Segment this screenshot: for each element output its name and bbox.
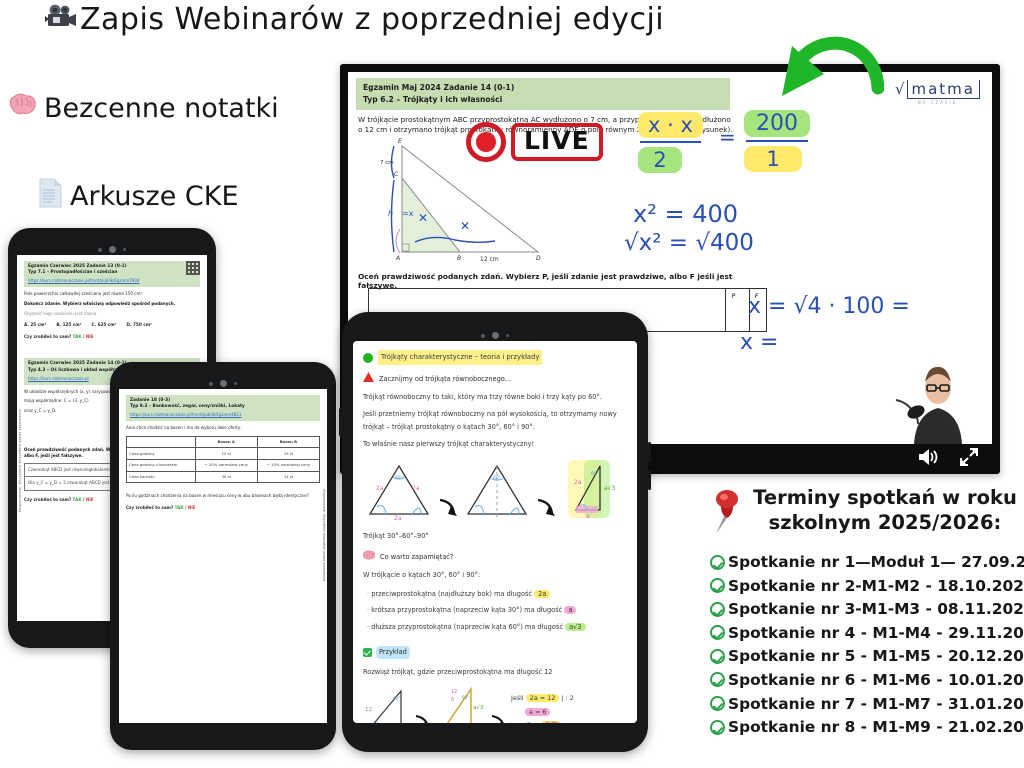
cell: Cena karnetu <box>127 471 196 483</box>
radical-icon: √ <box>895 80 907 98</box>
bullet-mark: 2a <box>534 590 550 598</box>
cell: 30 zł <box>195 471 257 483</box>
tablet-volume-button[interactable] <box>339 408 342 436</box>
tablet-screen: Trójkąty charakterystyczne – teoria i pr… <box>353 341 637 723</box>
cell: − 20% normalnej ceny <box>195 459 257 471</box>
page-title-text: Zapis Webinarów z poprzedniej edycji <box>80 2 664 37</box>
notes-bullet-list: · przeciwprostokątna (najdłuższy bok) ma… <box>363 588 627 634</box>
svg-text:60°: 60° <box>395 475 403 481</box>
list-item: · przeciwprostokątna (najdłuższy bok) ma… <box>363 588 627 601</box>
bullet-mark: a <box>564 606 576 614</box>
record-icon <box>466 122 506 162</box>
equals-sign: = <box>719 125 736 149</box>
page-title: Zapis Webinarów z poprzedniej edycji <box>44 2 664 37</box>
label-text: Bezcenne notatki <box>44 93 279 124</box>
example-solution: Jeśli 2a = 12 | : 2 a = 6 to a√3 = 6√3 <box>511 692 574 723</box>
remember-row: Co warto zapamiętać? <box>363 550 627 565</box>
task-line: Objętość tego sześcianu jest równa <box>24 311 200 317</box>
notes-page: Trójkąty charakterystyczne – teoria i pr… <box>353 341 637 723</box>
cell: 14 zł <box>257 471 319 483</box>
equilateral-triangle: 2a 2a 2a 60° <box>366 462 432 520</box>
label-bezcenne-notatki: Bezcenne notatki <box>8 92 279 124</box>
task-question: Po ilu godzinach chodzenia na basen w mi… <box>126 493 320 499</box>
svg-text:a√3: a√3 <box>473 704 484 711</box>
bullet-text: · dłuższa przyprostokątna (naprzeciw kąt… <box>367 623 563 631</box>
check-circle-icon <box>710 602 725 617</box>
schedule-list: Spotkanie nr 1—Moduł 1— 27.09.2025 Spotk… <box>710 553 1020 736</box>
svg-text:D: D <box>536 255 541 262</box>
tablet-power-button[interactable] <box>648 442 651 462</box>
col-header-0 <box>127 436 196 448</box>
svg-text:2a: 2a <box>376 485 384 492</box>
task-instruction: Dokończ zdanie. Wybierz właściwą odpowie… <box>24 301 200 307</box>
svg-text:B: B <box>457 255 461 262</box>
side-label-bottom: 12 cm <box>480 256 499 263</box>
triangle-illustrations: 2a 2a 2a 60° <box>363 458 627 520</box>
option-c[interactable]: C. 625 cm³ <box>91 322 116 328</box>
svg-text:C: C <box>394 171 399 178</box>
copyright-note: Eksponowanie. Wszystkich Wszystkich praw… <box>18 409 22 512</box>
svg-text:h: h <box>388 209 393 218</box>
frac-denominator: 2 <box>638 147 682 173</box>
self-check-yes[interactable]: TAK <box>73 334 82 339</box>
self-check-label: Czy zrobiłeś to sam? <box>24 334 71 339</box>
svg-text:✕: ✕ <box>460 219 470 233</box>
remember-text: Co warto zapamiętać? <box>380 551 453 564</box>
task-header-line2: Typ 7.1 – Prostopadłościan i sześcian <box>28 270 196 276</box>
self-check-yes[interactable]: TAK <box>175 505 184 510</box>
list-item: · dłuższa przyprostokątna (naprzeciw kąt… <box>363 621 627 634</box>
solve-if: Jeśli <box>511 694 524 702</box>
task-line: Pole powierzchni całkowitej sześcianu je… <box>24 291 200 297</box>
notes-intro-2: W trójkącie o kątach 30°, 60° i 90°: <box>363 569 627 582</box>
solve-then: to <box>511 721 517 723</box>
notes-subtitle-row: Zacznijmy od trójkąta równobocznego… <box>363 372 627 387</box>
schedule-item-label: Spotkanie nr 1—Moduł 1— 27.09.2025 <box>728 553 1024 571</box>
green-dot-icon <box>363 353 373 363</box>
copyright-note: Eksponowanie. Wszystkich Wszystkich praw… <box>322 489 326 581</box>
schedule-title-line2: szkolnym 2025/2026: <box>750 511 1020 536</box>
notes-heading-2: Trójkąt 30°–60°–90° <box>363 530 627 543</box>
cell: 12 zł <box>195 448 257 460</box>
answer-options: A. 25 cm³ B. 125 cm³ C. 625 cm³ D. 750 c… <box>24 322 200 328</box>
tablet-side-button[interactable] <box>648 470 651 490</box>
task-link[interactable]: https://kurs.matmanaczasie.pl/front/publ… <box>130 412 316 418</box>
list-item: Spotkanie nr 2-M1-M2 - 18.10.2025 <box>710 577 1020 595</box>
tablet-notes[interactable]: Trójkąty charakterystyczne – teoria i pr… <box>342 312 648 752</box>
svg-text:=x: =x <box>402 209 414 218</box>
cell: 15 zł <box>257 448 319 460</box>
self-check: Czy zrobiłeś to sam? TAK / NIE <box>126 505 320 511</box>
check-circle-icon <box>710 649 725 664</box>
cell: − 10% normalnej ceny <box>257 459 319 471</box>
side-label-left: 7 cm <box>380 160 394 166</box>
svg-text:6: 6 <box>451 697 454 703</box>
svg-text:✕: ✕ <box>418 211 428 225</box>
schedule-item-label: Spotkanie nr 2-M1-M2 - 18.10.2025 <box>728 577 1024 595</box>
schedule-title-line1: Terminy spotkań w roku <box>750 486 1020 511</box>
list-item: Spotkanie nr 6 - M1-M6 - 10.01.2026 <box>710 671 1020 689</box>
bullet-mark: a√3 <box>565 623 585 631</box>
list-item: Spotkanie nr 8 - M1-M9 - 21.02.2026 <box>710 718 1020 736</box>
self-check-label: Czy zrobiłeś to sam? <box>24 497 71 502</box>
logo-word: matma <box>907 80 981 99</box>
task-header-line2: Typ 6.2 – Trójkąty i ich własności <box>363 94 723 106</box>
green-curved-arrow-icon <box>766 30 884 122</box>
handwritten-line-3: √x² = √400 <box>624 230 754 256</box>
tablet-camera-row <box>353 330 637 341</box>
frac-numerator: x · x <box>638 112 703 138</box>
fullscreen-icon[interactable] <box>960 448 978 470</box>
list-item: Spotkanie nr 1—Moduł 1— 27.09.2025 <box>710 553 1020 571</box>
schedule-item-label: Spotkanie nr 4 - M1-M4 - 29.11.2025 <box>728 624 1024 642</box>
svg-text:60°: 60° <box>462 695 469 700</box>
svg-text:2a: 2a <box>412 485 420 492</box>
price-table: Basen A Basen B Cena godziny 12 zł 15 zł… <box>126 436 320 484</box>
table-row: Cena karnetu 30 zł 14 zł <box>127 471 320 483</box>
svg-text:60°: 60° <box>493 475 501 481</box>
notes-paragraph-2: Jeśli przetniemy trójkąt równoboczny na … <box>363 408 627 434</box>
self-check-yes[interactable]: TAK <box>73 497 82 502</box>
svg-text:a√3: a√3 <box>604 485 616 492</box>
check-circle-icon <box>710 720 725 735</box>
schedule-item-label: Spotkanie nr 8 - M1-M9 - 21.02.2026 <box>728 718 1024 736</box>
curved-arrow-icon <box>537 494 555 520</box>
schedule-item-label: Spotkanie nr 3-M1-M3 - 08.11.2025 <box>728 600 1024 618</box>
option-b[interactable]: B. 125 cm³ <box>56 322 81 328</box>
task-header-line2: Typ 9.3 – Bankowość, zegar, ceny/zniżki,… <box>130 404 316 410</box>
live-label: LIVE <box>511 123 603 160</box>
right-triangle-highlighted: 2a a√3 a 60° <box>562 458 624 520</box>
notes-paragraph-1: Trójkąt równoboczny to taki, który ma tr… <box>363 391 627 404</box>
example-text: Rozwiąż trójkąt, gdzie przeciwprostokątn… <box>363 666 627 679</box>
list-item: Spotkanie nr 4 - M1-M4 - 29.11.2025 <box>710 624 1020 642</box>
movie-camera-icon <box>44 3 78 37</box>
solve-div: | : 2 <box>561 694 573 702</box>
bullet-text: · przeciwprostokątna (najdłuższy bok) ma… <box>367 590 532 598</box>
page-document-icon <box>38 178 63 215</box>
handwritten-line-4: x = √4 · 100 = <box>748 294 910 319</box>
notes-title-row: Trójkąty charakterystyczne – teoria i pr… <box>363 350 627 365</box>
list-item: · krótsza przyprostokątna (naprzeciw kąt… <box>363 604 627 617</box>
option-d[interactable]: D. 750 cm³ <box>126 322 151 328</box>
table-row: Cena godziny z karnetem − 20% normalnej … <box>127 459 320 471</box>
col-header-1: Basen A <box>195 436 257 448</box>
brain-icon <box>363 550 375 565</box>
solve-eq1: 2a = 12 <box>526 694 560 702</box>
svg-text:60°: 60° <box>591 471 598 476</box>
tablet-screen: Zadanie 18 (0-3) Typ 9.3 – Bankowość, ze… <box>119 389 327 723</box>
task-intro: Ania chce chodzić na basen i ma do wybor… <box>126 425 320 431</box>
svg-text:60°: 60° <box>393 696 400 701</box>
self-check-no[interactable]: NIE <box>188 505 196 510</box>
example-badge: Przykład <box>363 646 410 659</box>
svg-text:12: 12 <box>365 707 372 713</box>
check-circle-icon <box>710 625 725 640</box>
self-check-label: Czy zrobiłeś to sam? <box>126 505 173 510</box>
curved-arrow-icon <box>415 711 431 723</box>
notes-paragraph-3: To właśnie nasz pierwszy trójkąt charakt… <box>363 438 627 451</box>
curved-arrow-icon <box>439 494 457 520</box>
curved-arrow-icon <box>491 711 507 723</box>
schedule-item-label: Spotkanie nr 5 - M1-M5 - 20.12.2025 <box>728 647 1024 665</box>
check-icon <box>363 648 372 657</box>
speaker-icon[interactable] <box>918 448 940 470</box>
schedule-block: Terminy spotkań w roku szkolnym 2025/202… <box>710 486 1020 742</box>
label-text: Arkusze CKE <box>70 181 239 212</box>
task-header: Egzamin Czerwiec 2025 Zadanie 13 (0-1) T… <box>24 261 200 287</box>
tablet-camera-row <box>17 244 207 255</box>
check-circle-icon <box>710 555 725 570</box>
tablet-camera-row <box>119 378 327 389</box>
task-header: Zadanie 18 (0-3) Typ 9.3 – Bankowość, ze… <box>126 395 320 421</box>
solve-eq4: 6√3 <box>541 721 561 723</box>
svg-text:a: a <box>586 513 590 520</box>
col-header-2: Basen B <box>257 436 319 448</box>
svg-text:12: 12 <box>451 689 457 695</box>
schedule-item-label: Spotkanie nr 7 - M1-M7 - 31.01.2026 <box>728 695 1024 713</box>
notes-subtitle: Zacznijmy od trójkąta równobocznego… <box>379 373 511 386</box>
red-triangle-icon <box>363 372 374 387</box>
bullet-text: · krótsza przyprostokątna (naprzeciw kąt… <box>367 606 562 614</box>
svg-text:2a: 2a <box>394 515 402 520</box>
list-item: Spotkanie nr 7 - M1-M7 - 31.01.2026 <box>710 695 1020 713</box>
list-item: Spotkanie nr 3-M1-M3 - 08.11.2025 <box>710 600 1020 618</box>
task-header-line1: Egzamin Maj 2024 Zadanie 14 (0-1) <box>363 82 723 94</box>
rhs-denominator: 1 <box>744 146 802 172</box>
check-circle-icon <box>710 672 725 687</box>
video-task-header: Egzamin Maj 2024 Zadanie 14 (0-1) Typ 6.… <box>356 78 730 110</box>
tablet-cke-sheet-2[interactable]: Zadanie 18 (0-3) Typ 9.3 – Bankowość, ze… <box>110 362 336 750</box>
svg-text:A: A <box>395 255 400 262</box>
brain-icon <box>8 92 37 124</box>
self-check: Czy zrobiłeś to sam? TAK / NIE <box>24 334 200 340</box>
split-triangle: 60° <box>464 462 530 520</box>
schedule-item-label: Spotkanie nr 6 - M1-M6 - 10.01.2026 <box>728 671 1024 689</box>
live-badge: LIVE <box>466 122 603 162</box>
svg-text:E: E <box>398 138 402 145</box>
example-triangle-1: 12 60° <box>363 685 411 723</box>
example-triangle-2: 12 6 a√3 a 60° <box>435 683 487 723</box>
list-item: Spotkanie nr 5 - M1-M5 - 20.12.2025 <box>710 647 1020 665</box>
logo-subtitle: NA CZASIE <box>895 100 980 105</box>
check-circle-icon <box>710 696 725 711</box>
qr-code <box>186 261 200 275</box>
example-label: Przykład <box>376 646 410 659</box>
col-p: P <box>732 293 736 300</box>
table-row: Cena godziny 12 zł 15 zł <box>127 448 320 460</box>
example-illustrations: 12 60° 12 6 a√3 a 60° <box>363 683 627 723</box>
cke-sheet: Zadanie 18 (0-3) Typ 9.3 – Bankowość, ze… <box>119 389 327 518</box>
option-a[interactable]: A. 25 cm³ <box>24 322 46 328</box>
schedule-header: Terminy spotkań w roku szkolnym 2025/202… <box>710 486 1020 540</box>
svg-text:2a: 2a <box>574 479 582 486</box>
notes-title: Trójkąty charakterystyczne – teoria i pr… <box>378 350 542 365</box>
self-check-no[interactable]: NIE <box>86 334 94 339</box>
slide-canvas: Zapis Webinarów z poprzedniej edycji Bez… <box>0 0 1024 768</box>
solve-equals: = <box>534 721 539 723</box>
handwritten-fraction-1: x · x 2 <box>638 112 703 173</box>
label-arkusze-cke: Arkusze CKE <box>38 178 239 215</box>
presenter-webcam <box>894 358 984 444</box>
solve-eq3: a√3 <box>519 721 531 723</box>
self-check-no[interactable]: NIE <box>86 497 94 502</box>
cell: Cena godziny <box>127 448 196 460</box>
handwritten-line-5: x = <box>740 330 778 355</box>
solve-eq2: a = 6 <box>525 708 550 716</box>
handwritten-line-2: x² = 400 <box>633 200 738 228</box>
matma-logo: √ matma NA CZASIE <box>895 80 980 105</box>
pushpin-icon <box>710 486 744 540</box>
task-link[interactable]: https://kurs.matmanaczasie.pl/front/publ… <box>28 278 196 284</box>
check-circle-icon <box>710 578 725 593</box>
cell: Cena godziny z karnetem <box>127 459 196 471</box>
